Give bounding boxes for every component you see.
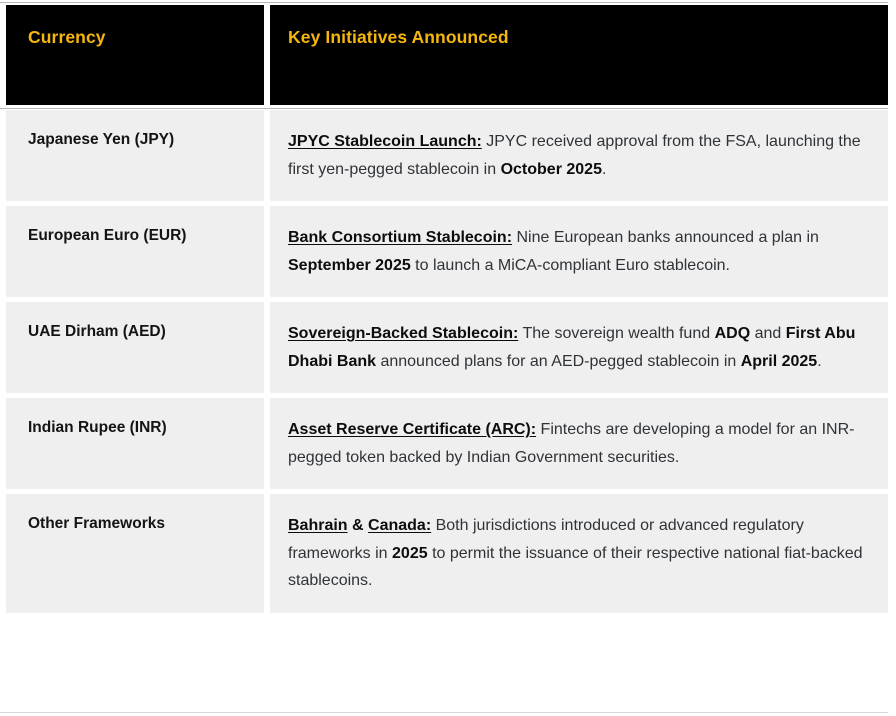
initiative-emphasis-eur-date: September 2025 <box>288 257 411 274</box>
table-body: Japanese Yen (JPY) JPYC Stablecoin Launc… <box>6 110 888 613</box>
initiative-body-aed-4: . <box>817 353 821 370</box>
page-root: Currency Key Initiatives Announced Japan… <box>0 0 896 716</box>
cell-initiatives-eur: Bank Consortium Stablecoin: Nine Europea… <box>270 206 888 297</box>
initiative-body-eur-2: to launch a MiCA-compliant Euro stableco… <box>411 257 730 274</box>
initiative-body-jpy-2: . <box>602 161 606 178</box>
currency-initiatives-table: Currency Key Initiatives Announced Japan… <box>0 0 894 618</box>
cell-currency-aed: UAE Dirham (AED) <box>6 302 264 393</box>
table-row: European Euro (EUR) Bank Consortium Stab… <box>6 206 888 297</box>
initiative-title-bank-consortium: Bank Consortium Stablecoin: <box>288 229 512 246</box>
top-divider-rule <box>0 2 888 3</box>
initiative-title-jpyc: JPYC Stablecoin Launch: <box>288 133 482 150</box>
initiative-body-aed-1: The sovereign wealth fund <box>518 325 714 342</box>
column-header-currency: Currency <box>6 5 264 105</box>
table-row: UAE Dirham (AED) Sovereign-Backed Stable… <box>6 302 888 393</box>
initiative-emphasis-aed-date: April 2025 <box>741 353 817 370</box>
table-row: Indian Rupee (INR) Asset Reserve Certifi… <box>6 398 888 489</box>
cell-currency-jpy: Japanese Yen (JPY) <box>6 110 264 201</box>
table-header-row: Currency Key Initiatives Announced <box>6 5 888 105</box>
cell-initiatives-other: Bahrain & Canada: Both jurisdictions int… <box>270 494 888 613</box>
cell-currency-eur: European Euro (EUR) <box>6 206 264 297</box>
cell-initiatives-inr: Asset Reserve Certificate (ARC): Fintech… <box>270 398 888 489</box>
header-bottom-divider-rule <box>0 108 888 109</box>
initiative-title-canada: Canada <box>368 517 426 534</box>
initiative-emphasis-aed-adq: ADQ <box>715 325 751 342</box>
table-row: Japanese Yen (JPY) JPYC Stablecoin Launc… <box>6 110 888 201</box>
cell-initiatives-aed: Sovereign-Backed Stablecoin: The soverei… <box>270 302 888 393</box>
initiative-emphasis-other-date: 2025 <box>392 545 428 562</box>
cell-currency-inr: Indian Rupee (INR) <box>6 398 264 489</box>
initiative-title-arc: Asset Reserve Certificate (ARC): <box>288 421 536 438</box>
initiative-title-separator: & <box>348 517 368 534</box>
initiative-title-bahrain: Bahrain <box>288 517 348 534</box>
initiative-body-eur-1: Nine European banks announced a plan in <box>512 229 819 246</box>
cell-currency-other: Other Frameworks <box>6 494 264 613</box>
cell-initiatives-jpy: JPYC Stablecoin Launch: JPYC received ap… <box>270 110 888 201</box>
bottom-divider-rule <box>0 712 888 713</box>
initiative-emphasis-jpy-date: October 2025 <box>501 161 602 178</box>
table-row: Other Frameworks Bahrain & Canada: Both … <box>6 494 888 613</box>
column-header-initiatives: Key Initiatives Announced <box>270 5 888 105</box>
initiative-body-aed-3: announced plans for an AED-pegged stable… <box>376 353 741 370</box>
initiative-body-aed-2: and <box>750 325 786 342</box>
table-header: Currency Key Initiatives Announced <box>6 5 888 105</box>
initiative-title-sovereign-backed: Sovereign-Backed Stablecoin: <box>288 325 518 342</box>
